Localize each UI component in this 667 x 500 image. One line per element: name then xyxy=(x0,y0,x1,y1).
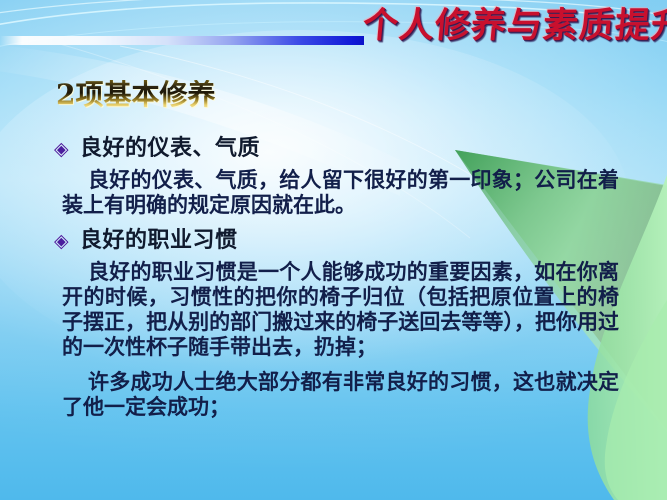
body-paragraph: 良好的职业习惯是一个人能够成功的重要因素，如在你离开的时候，习惯性的把你的椅子归… xyxy=(0,260,667,360)
page-title: 个人修养与素质提升 xyxy=(361,8,667,43)
diamond-bullet-icon: ◈ xyxy=(54,134,80,164)
bullet-heading: 良好的仪表、气质 xyxy=(80,134,260,164)
sub-heading: 2项基本修养 xyxy=(56,80,215,111)
diamond-bullet-icon: ◈ xyxy=(54,226,80,256)
title-accent-rule xyxy=(0,36,364,45)
body-paragraph: 良好的仪表、气质，给人留下很好的第一印象；公司在着装上有明确的规定原因就在此。 xyxy=(0,168,667,218)
slide-canvas: 个人修养与素质提升 2项基本修养 ◈ 良好的仪表、气质 良好的仪表、气质，给人留… xyxy=(0,0,667,500)
bullet-item: ◈ 良好的职业习惯 xyxy=(0,226,667,256)
bullet-heading: 良好的职业习惯 xyxy=(80,226,238,256)
body-paragraph: 许多成功人士绝大部分都有非常良好的习惯，这也就决定了他一定会成功； xyxy=(0,370,667,420)
slide-content: ◈ 良好的仪表、气质 良好的仪表、气质，给人留下很好的第一印象；公司在着装上有明… xyxy=(0,134,667,420)
bullet-item: ◈ 良好的仪表、气质 xyxy=(0,134,667,164)
